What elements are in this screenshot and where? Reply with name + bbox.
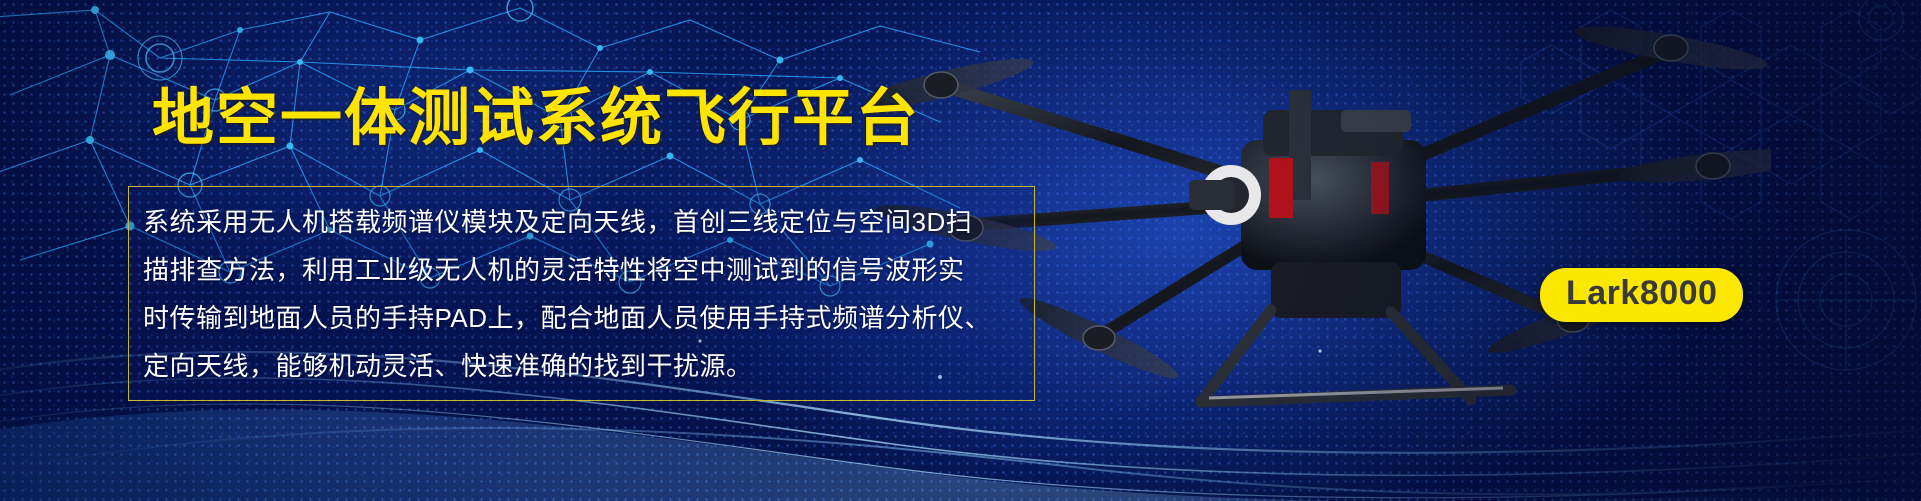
- description-line: 时传输到地面人员的手持PAD上，配合地面人员使用手持式频谱分析仪、: [129, 294, 1034, 342]
- description-box: 系统采用无人机搭载频谱仪模块及定向天线，首创三线定位与空间3D扫 描排查方法，利…: [128, 186, 1035, 401]
- product-model-badge: Lark8000: [1540, 268, 1743, 322]
- promo-banner: 地空一体测试系统飞行平台 系统采用无人机搭载频谱仪模块及定向天线，首创三线定位与…: [0, 0, 1921, 501]
- page-title: 地空一体测试系统飞行平台: [152, 88, 920, 150]
- description-line: 定向天线，能够机动灵活、快速准确的找到干扰源。: [129, 342, 1034, 390]
- description-line: 描排查方法，利用工业级无人机的灵活特性将空中测试到的信号波形实: [129, 246, 1034, 294]
- description-line: 系统采用无人机搭载频谱仪模块及定向天线，首创三线定位与空间3D扫: [129, 198, 1034, 246]
